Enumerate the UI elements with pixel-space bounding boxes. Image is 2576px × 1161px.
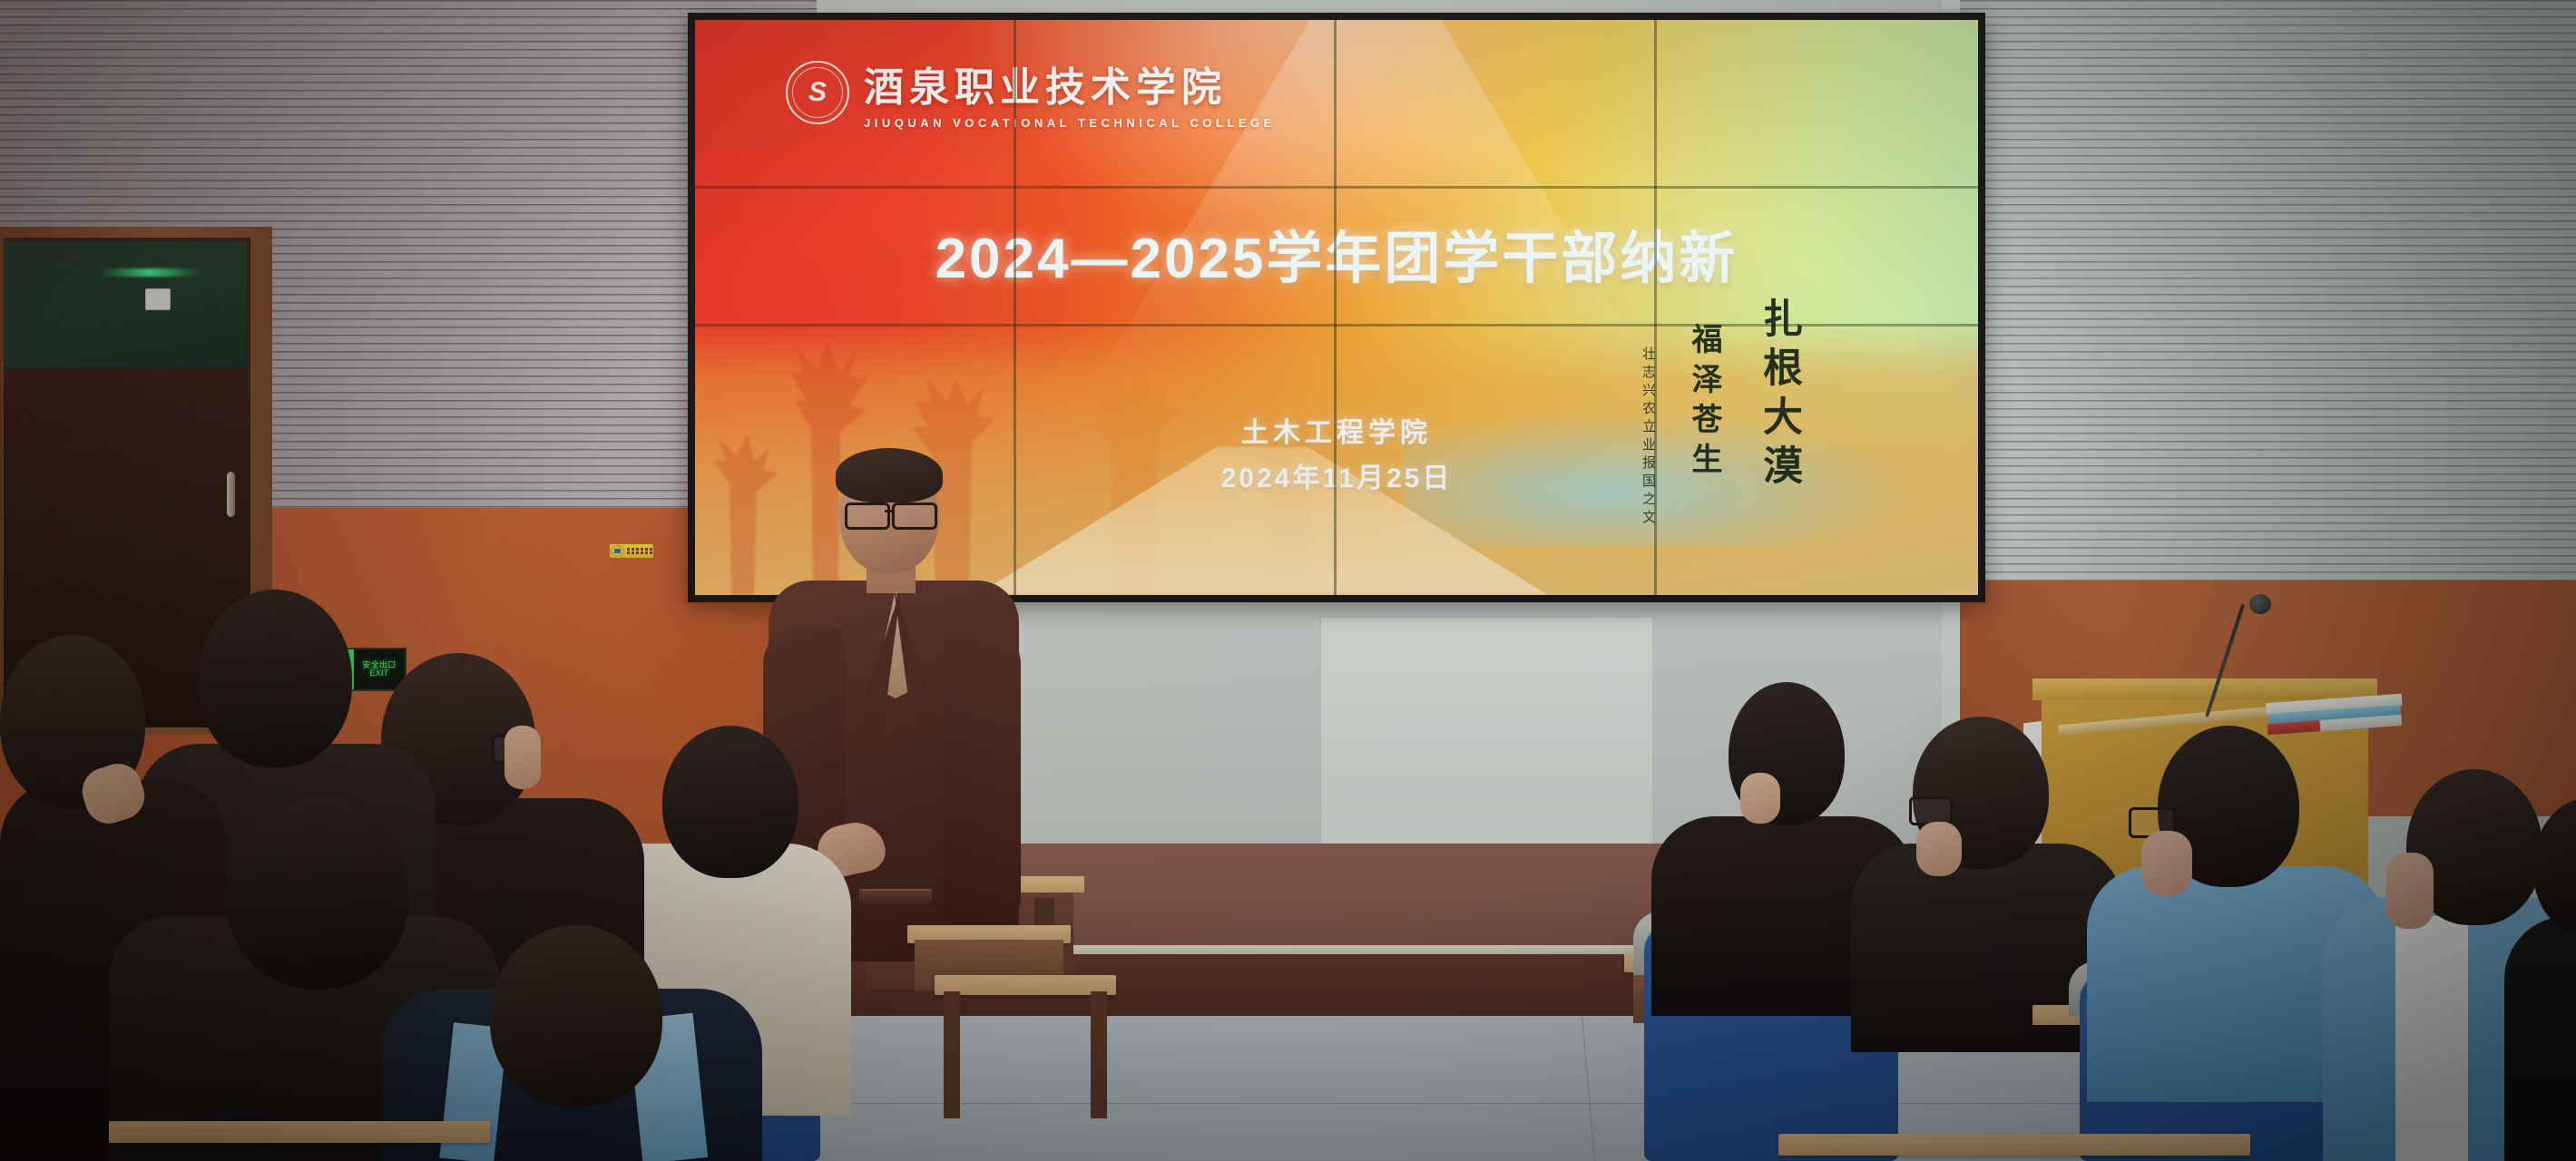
slide-title: 2024—2025学年团学干部纳新: [695, 212, 1978, 294]
audience-person-head: [227, 798, 408, 989]
microphone-icon[interactable]: [2249, 594, 2271, 614]
right-acoustic-slat-panel: [1960, 0, 2576, 580]
calligraphy-main: 扎根大漠: [1749, 298, 1807, 493]
eyeglasses-icon: [1909, 796, 1953, 825]
videowall-bezel-v3: [1654, 20, 1657, 595]
school-name-english: JIUQUAN VOCATIONAL TECHNICAL COLLEGE: [864, 116, 1276, 130]
warning-text-lines: [624, 546, 653, 556]
school-seal-icon: S: [786, 61, 849, 124]
eyeglasses-icon: [845, 502, 890, 530]
presenter-right-arm: [943, 626, 1021, 925]
exit-sign-text: 安全出口 EXIT: [354, 649, 405, 689]
audience-person-face: [504, 726, 541, 789]
door-glass-pane: [4, 241, 247, 368]
audience-desk-leg: [944, 991, 960, 1118]
audience-desk: [1778, 1134, 2250, 1156]
audience-person-head: [198, 590, 352, 767]
jacket-white-stripe: [2395, 916, 2468, 1161]
audience-person-face: [2386, 853, 2434, 929]
glass-reflection: [100, 268, 200, 277]
side-counter-top: [2032, 678, 2377, 700]
warning-sticker: [610, 544, 653, 558]
calligraphy-sub: 福泽苍生: [1681, 323, 1726, 483]
exit-text-en: EXIT: [369, 669, 388, 678]
calligraphy-block: 壮志兴农立业报国之文 福泽苍生 扎根大漠: [1639, 292, 1807, 528]
videowall-bezel-h1: [695, 186, 1978, 189]
seal-glyph: S: [808, 79, 827, 106]
audience-person-head: [662, 726, 798, 878]
audience-person-torso: [2504, 916, 2576, 1161]
audience-person-head: [490, 925, 662, 1107]
light-switch-plate[interactable]: [145, 288, 171, 310]
audience-desk: [935, 975, 1116, 995]
door-handle[interactable]: [227, 472, 235, 517]
jacket-pocket: [859, 889, 932, 903]
school-logo-lockup: S 酒泉职业技术学院 JIUQUAN VOCATIONAL TECHNICAL …: [786, 54, 1276, 130]
audience-person-face: [2141, 831, 2192, 896]
videowall-bezel-v2: [1334, 20, 1337, 595]
audience-person-neck: [1740, 773, 1780, 824]
lecture-hall-photo: 安全出口 EXIT S: [0, 0, 2576, 1161]
blank-wall-panel: [1320, 617, 1653, 877]
warning-icon: [611, 545, 624, 557]
videowall-bezel-h2: [695, 324, 1978, 327]
eyeglasses-bridge: [885, 510, 894, 512]
audience-person-face: [1916, 822, 1962, 876]
school-name-chinese: 酒泉职业技术学院: [864, 54, 1276, 112]
audience-desk: [109, 1121, 490, 1143]
audience-desk-leg: [1091, 991, 1107, 1118]
eyeglasses-icon-right: [892, 502, 937, 530]
presenter-hair: [836, 448, 943, 502]
